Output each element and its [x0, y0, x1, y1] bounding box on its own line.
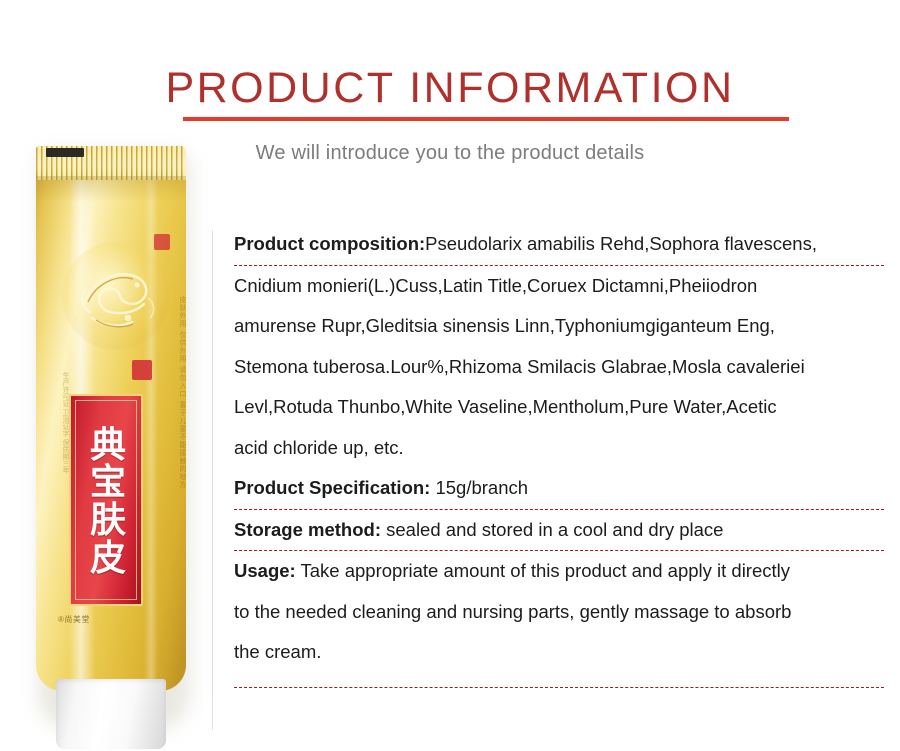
composition-line-1: Product composition:Pseudolarix amabilis… — [234, 224, 884, 265]
usage-line-1: Usage: Take appropriate amount of this p… — [234, 551, 884, 592]
product-info-panel: Product composition:Pseudolarix amabilis… — [212, 224, 884, 688]
tube-body: 皮肤外用 仅供外用 请勿入口 置于儿童不能接触的地方 生产许可证 卫消证字 保质… — [36, 146, 186, 691]
usage-label: Usage: — [234, 560, 296, 581]
composition-label: Product composition: — [234, 233, 425, 254]
usage-line-2: to the needed cleaning and nursing parts… — [234, 592, 884, 633]
tube-label-char-2: 肤 — [90, 503, 126, 539]
info-section-storage-method: Storage method: sealed and stored in a c… — [212, 510, 884, 551]
tube-neck-shading — [36, 176, 186, 202]
tube-cap — [56, 679, 166, 749]
tube-product-label: 皮 肤 宝 典 — [69, 394, 143, 606]
storage-label: Storage method: — [234, 519, 381, 540]
storage-line: Storage method: sealed and stored in a c… — [234, 510, 884, 551]
info-section-product-specification: Product Specification: 15g/branch — [212, 468, 884, 509]
storage-value: sealed and stored in a cool and dry plac… — [381, 519, 723, 540]
usage-line-3: the cream. — [234, 632, 884, 673]
specification-label: Product Specification: — [234, 477, 430, 498]
usage-text-1: Take appropriate amount of this product … — [296, 560, 790, 581]
product-tube-image: 皮肤外用 仅供外用 请勿入口 置于儿童不能接触的地方 生产许可证 卫消证字 保质… — [24, 146, 204, 746]
title-underline-rule — [183, 117, 789, 121]
tube-brand-mark: ®尚美堂 — [58, 614, 90, 625]
composition-text-1: Pseudolarix amabilis Rehd,Sophora flaves… — [425, 233, 817, 254]
specification-value: 15g/branch — [430, 477, 528, 498]
composition-line-2: Cnidium monieri(L.)Cuss,Latin Title,Coru… — [234, 266, 884, 307]
composition-line-6: acid chloride up, etc. — [234, 428, 884, 469]
tube-seal-stamp-lower — [132, 360, 152, 380]
info-section-usage: Usage: Take appropriate amount of this p… — [212, 551, 884, 673]
composition-line-5: Levl,Rotuda Thunbo,White Vaseline,Mentho… — [234, 387, 884, 428]
tube-label-char-3: 宝 — [90, 465, 126, 501]
composition-line-4: Stemona tuberosa.Lour%,Rhizoma Smilacis … — [234, 347, 884, 388]
tube-label-char-4: 典 — [90, 428, 126, 464]
tube-label-char-1: 皮 — [90, 541, 126, 577]
info-section-product-composition: Product composition:Pseudolarix amabilis… — [212, 224, 884, 265]
composition-line-3: amurense Rupr,Gleditsia sinensis Linn,Ty… — [234, 306, 884, 347]
tube-side-text: 皮肤外用 仅供外用 请勿入口 置于儿童不能接触的地方 — [148, 296, 186, 596]
tube-label-characters: 皮 肤 宝 典 — [71, 396, 143, 606]
info-separator-bottom — [234, 687, 884, 688]
specification-line: Product Specification: 15g/branch — [234, 468, 884, 509]
tube-batch-mark — [46, 148, 84, 157]
page-title: PRODUCT INFORMATION — [0, 64, 900, 113]
tube-seal-stamp-upper — [154, 234, 170, 250]
info-section-product-composition-cont: Cnidium monieri(L.)Cuss,Latin Title,Coru… — [212, 266, 884, 469]
